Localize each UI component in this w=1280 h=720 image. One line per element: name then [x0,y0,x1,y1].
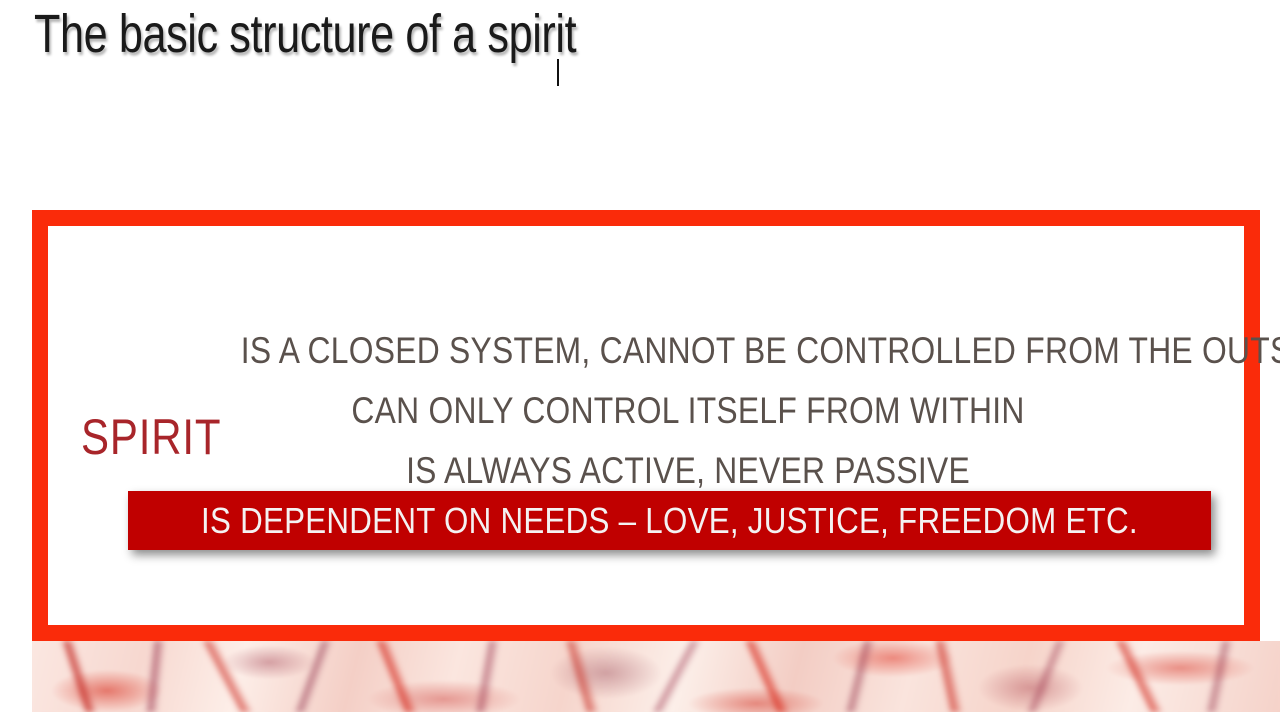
photo-blur-overlay [32,641,1280,712]
statement-list: IS A CLOSED SYSTEM, CANNOT BE CONTROLLED… [168,321,1208,501]
content-frame[interactable]: SPIRIT IS A CLOSED SYSTEM, CANNOT BE CON… [32,210,1260,641]
highlight-banner-text: IS DEPENDENT ON NEEDS – LOVE, JUSTICE, F… [201,501,1138,541]
page-title[interactable]: The basic structure of a spirit [34,2,576,66]
highlight-banner[interactable]: IS DEPENDENT ON NEEDS – LOVE, JUSTICE, F… [128,491,1211,550]
statement-line-2[interactable]: CAN ONLY CONTROL ITSELF FROM WITHIN [241,381,1135,441]
decorative-photo-strip [32,641,1280,712]
slide-canvas: The basic structure of a spirit SPIRIT I… [0,0,1280,720]
content-frame-inner: SPIRIT IS A CLOSED SYSTEM, CANNOT BE CON… [48,226,1244,625]
statement-line-1[interactable]: IS A CLOSED SYSTEM, CANNOT BE CONTROLLED… [241,321,1135,381]
text-cursor-caret [557,59,559,86]
